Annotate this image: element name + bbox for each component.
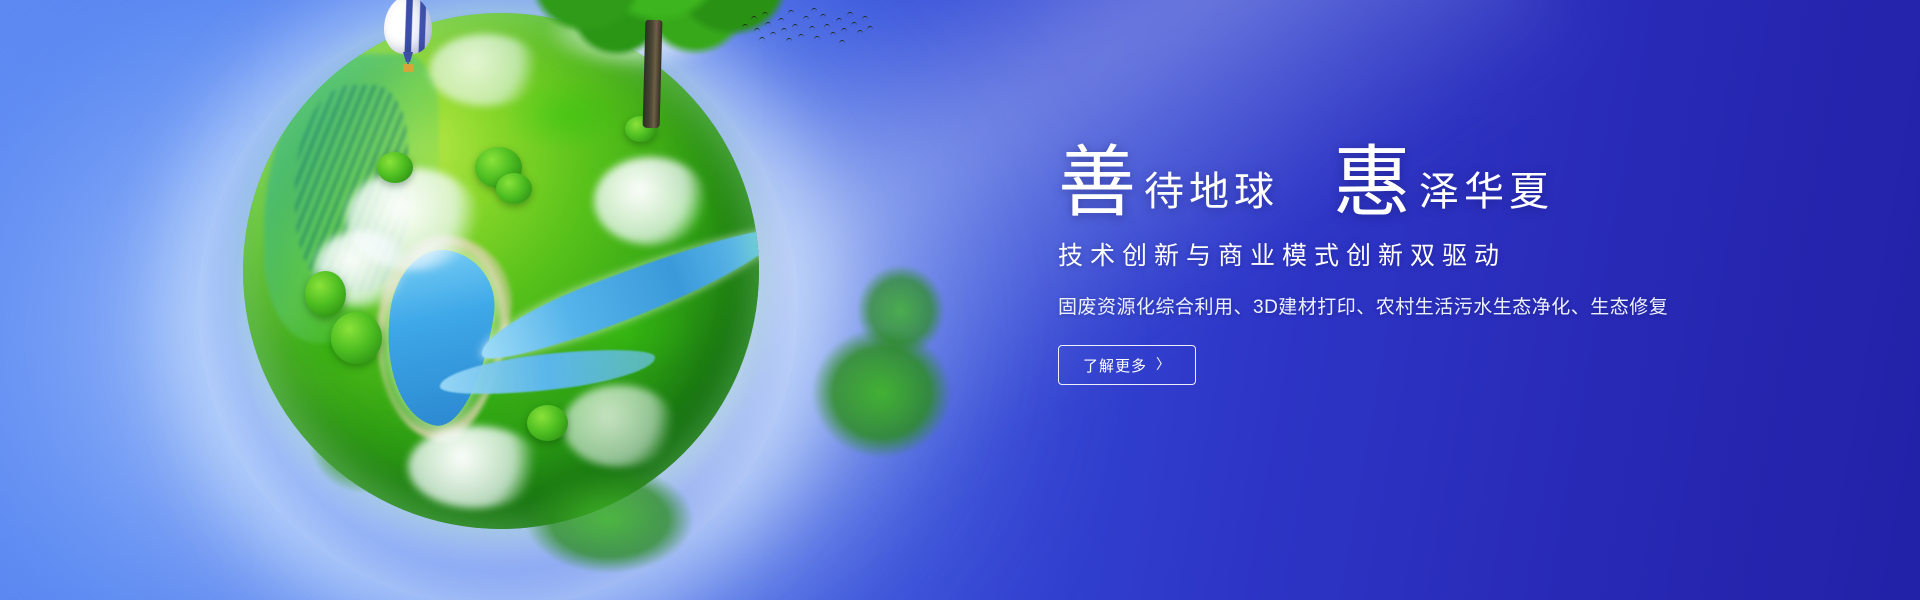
globe-illustration — [148, 0, 848, 600]
bird-icon — [820, 14, 826, 19]
bird-icon — [867, 26, 873, 31]
bird-icon — [778, 18, 784, 23]
headline-text-1: 待地球 — [1136, 172, 1279, 212]
bird-icon — [792, 24, 798, 29]
bird-icon — [770, 32, 776, 37]
bird-icon — [841, 28, 847, 33]
bird-icon — [803, 16, 809, 21]
bird-icon — [857, 30, 863, 35]
bird-icon — [824, 24, 830, 29]
bird-icon — [786, 38, 792, 43]
chevron-right-icon: 〉 — [1156, 357, 1171, 371]
bird-icon — [830, 32, 836, 37]
bird-icon — [809, 26, 815, 31]
bird-icon — [798, 34, 804, 39]
bird-icon — [814, 36, 820, 41]
banner-content: 善 待地球 惠 泽华夏 技术创新与商业模式创新双驱动 固废资源化综合利用、3D建… — [1058, 140, 1678, 385]
bird-flock-icon — [740, 6, 870, 52]
bird-icon — [811, 8, 817, 13]
bird-icon — [862, 16, 868, 21]
bird-icon — [851, 22, 857, 27]
headline-char-primary-2: 惠 — [1333, 144, 1411, 222]
page-description: 固废资源化综合利用、3D建材打印、农村生活污水生态净化、生态修复 — [1058, 292, 1678, 319]
bird-icon — [751, 16, 757, 21]
tree-trunk — [643, 20, 663, 128]
balloon-basket — [403, 64, 414, 72]
hero-banner: 善 待地球 惠 泽华夏 技术创新与商业模式创新双驱动 固废资源化综合利用、3D建… — [0, 0, 1920, 600]
bird-icon — [839, 40, 845, 45]
page-subtitle: 技术创新与商业模式创新双驱动 — [1058, 236, 1678, 272]
balloon-envelope — [384, 0, 432, 54]
headline-text-2: 泽华夏 — [1411, 172, 1554, 212]
bird-icon — [765, 22, 771, 27]
bird-icon — [742, 24, 748, 29]
bird-icon — [788, 10, 794, 15]
page-title: 善 待地球 惠 泽华夏 — [1058, 140, 1678, 218]
bird-icon — [781, 28, 787, 33]
bird-icon — [847, 12, 853, 17]
bird-icon — [759, 37, 765, 42]
headline-char-primary-1: 善 — [1058, 144, 1136, 222]
bird-icon — [762, 12, 768, 17]
learn-more-label: 了解更多 — [1083, 355, 1147, 376]
learn-more-button[interactable]: 了解更多 〉 — [1058, 345, 1196, 385]
hot-air-balloon-icon — [384, 0, 432, 80]
bird-icon — [754, 28, 760, 33]
bird-icon — [836, 18, 842, 23]
foreground-tree-icon — [508, 458, 738, 598]
foreground-tree-icon — [848, 258, 968, 378]
